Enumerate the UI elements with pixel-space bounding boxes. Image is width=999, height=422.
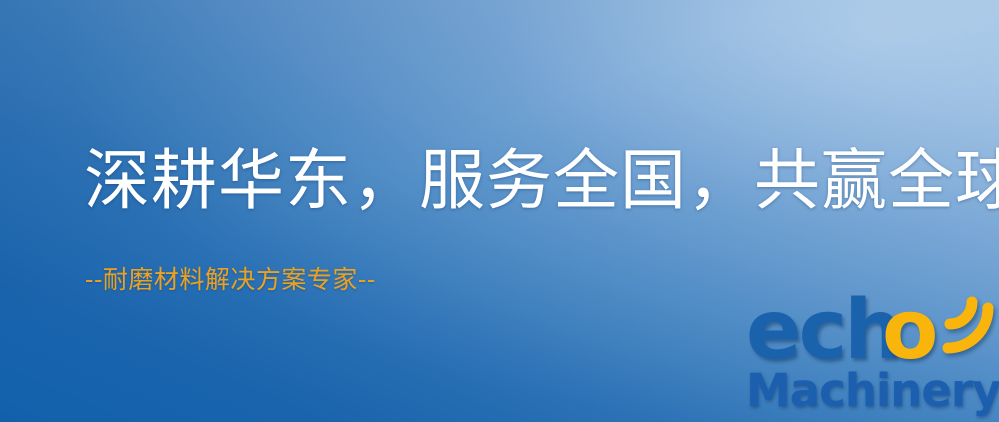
- echo-wave-icon: [928, 288, 999, 358]
- logo-tagline-text: Machinery: [746, 364, 999, 417]
- logo-brand-text-blue: ech: [746, 290, 900, 372]
- banner-headline: 深耕华东，服务全国，共赢全球: [84, 148, 999, 214]
- banner-subtitle: --耐磨材料解决方案专家--: [85, 267, 376, 292]
- hero-banner: 深耕华东，服务全国，共赢全球 --耐磨材料解决方案专家-- ech o Mach…: [0, 0, 999, 422]
- logo-tagline: Machinery®: [746, 368, 999, 413]
- echo-machinery-logo[interactable]: ech o Machinery®: [742, 294, 999, 422]
